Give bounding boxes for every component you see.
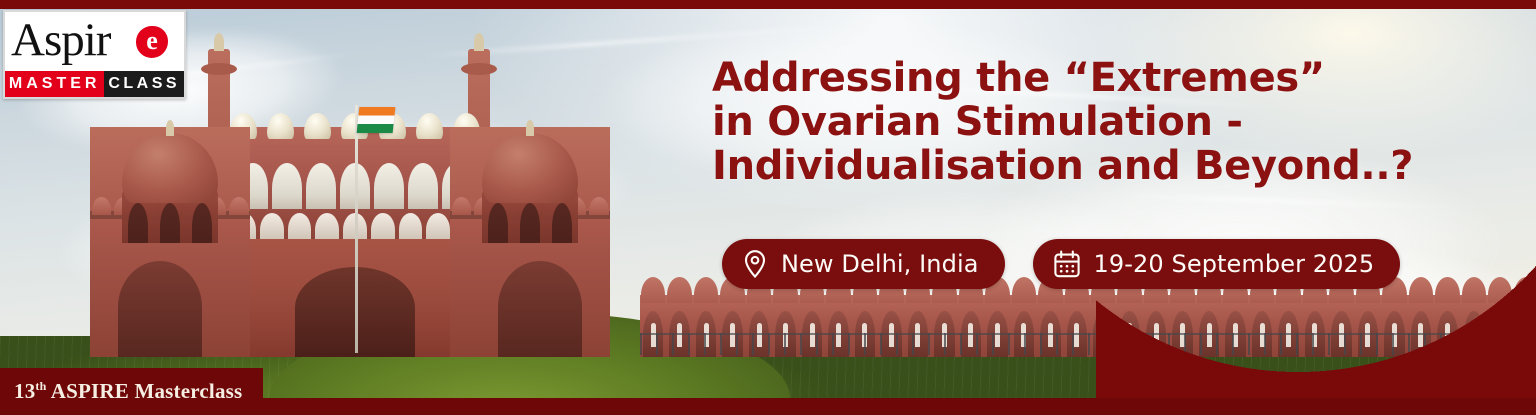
edition-ordinal: th: [35, 379, 46, 393]
edition-tag-label: 13th ASPIRE Masterclass: [0, 379, 242, 404]
edition-tag: 13th ASPIRE Masterclass: [0, 368, 263, 415]
fort-arch: [374, 163, 404, 209]
location-pill[interactable]: New Delhi, India: [722, 239, 1005, 289]
fort-white-dome: [267, 113, 294, 139]
logo-class-text: CLASS: [104, 71, 184, 97]
top-accent-strip: [0, 0, 1536, 9]
fort-arch: [408, 163, 438, 209]
calendar-icon: [1053, 250, 1081, 279]
date-label: 19-20 September 2025: [1094, 250, 1375, 278]
fort-arch: [306, 163, 336, 209]
fort-arch: [272, 163, 302, 209]
aspire-masterclass-logo[interactable]: Aspir e MASTER CLASS: [3, 10, 186, 99]
logo-e-blob-icon: e: [136, 26, 168, 58]
fort-side-arch: [498, 261, 582, 357]
date-pill[interactable]: 19-20 September 2025: [1033, 239, 1401, 289]
fort-arch: [260, 213, 284, 239]
chhatri-arch: [520, 203, 540, 243]
headline-line-2: in Ovarian Stimulation -: [712, 100, 1502, 144]
fort-white-dome: [304, 113, 331, 139]
fort-arch: [288, 213, 312, 239]
logo-word-aspire: Aspir: [11, 17, 110, 64]
event-banner: 13th ASPIRE Masterclass Aspir e MASTER C…: [0, 0, 1536, 415]
fort-arch: [399, 213, 423, 239]
fort-wall-railing: [640, 333, 1536, 355]
indian-flag-icon: [357, 107, 396, 133]
crenel: [589, 197, 609, 215]
flagpole: [355, 105, 358, 353]
event-meta-pills: New Delhi, India 19-20 September 2025: [722, 239, 1400, 289]
fort-dome: [482, 133, 578, 203]
chhatri-arch: [160, 203, 180, 243]
crenel: [92, 197, 112, 215]
fort-arch: [371, 213, 395, 239]
crenel: [452, 197, 472, 215]
headline-line-3: Individualisation and Beyond..?: [712, 144, 1502, 188]
red-fort-structure: [30, 57, 670, 357]
logo-subtitle: MASTER CLASS: [5, 71, 184, 97]
chhatri-arch: [192, 203, 212, 243]
chhatri-arch: [128, 203, 148, 243]
location-label: New Delhi, India: [781, 250, 979, 278]
location-pin-icon: [742, 249, 768, 279]
event-headline: Addressing the “Extremes” in Ovarian Sti…: [712, 56, 1502, 188]
crenel: [229, 197, 249, 215]
fort-arch: [426, 213, 450, 239]
fort-white-dome: [416, 113, 443, 139]
fort-side-arch: [118, 261, 202, 357]
edition-text: ASPIRE Masterclass: [46, 379, 242, 403]
chhatri-arch: [488, 203, 508, 243]
logo-master-text: MASTER: [5, 71, 104, 97]
logo-wordmark: Aspir e: [5, 12, 184, 71]
chhatri-arch: [552, 203, 572, 243]
logo-e-letter: e: [146, 28, 158, 54]
edition-number: 13: [14, 379, 35, 403]
fort-dome: [122, 133, 218, 203]
fort-arch: [315, 213, 339, 239]
headline-line-1: Addressing the “Extremes”: [712, 56, 1502, 100]
